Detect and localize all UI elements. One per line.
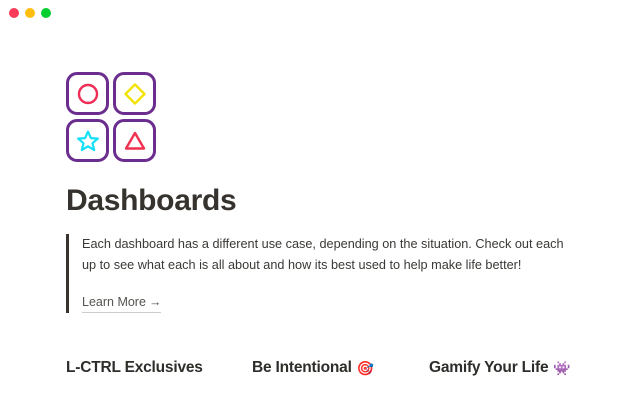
maximize-window-button[interactable] [41, 8, 51, 18]
description-text: Each dashboard has a different use case,… [82, 234, 569, 276]
triangle-shape-icon [123, 129, 147, 153]
description-quote-block: Each dashboard has a different use case,… [66, 234, 582, 313]
close-window-button[interactable] [9, 8, 19, 18]
star-shape-icon [76, 129, 100, 153]
section-heading-l-ctrl-exclusives[interactable]: L-CTRL Exclusives [66, 359, 252, 377]
window-title-bar [0, 0, 640, 26]
circle-shape-icon [76, 82, 100, 106]
dart-emoji: 🎯 [357, 361, 374, 375]
hero-section: Dashboards Each dashboard has a differen… [0, 26, 640, 313]
section-label: Gamify Your Life [429, 359, 548, 377]
traffic-light-group [9, 8, 51, 18]
section-label: Be Intentional [252, 359, 352, 377]
learn-more-link[interactable]: Learn More→ [82, 293, 161, 313]
section-heading-row: L-CTRL Exclusives Be Intentional 🎯 Gamif… [0, 359, 640, 377]
page-content: Dashboards Each dashboard has a differen… [0, 26, 640, 377]
section-heading-gamify-your-life[interactable]: Gamify Your Life 👾 [429, 359, 619, 377]
section-label: L-CTRL Exclusives [66, 359, 203, 377]
minimize-window-button[interactable] [25, 8, 35, 18]
section-heading-be-intentional[interactable]: Be Intentional 🎯 [252, 359, 429, 377]
alien-monster-emoji: 👾 [553, 361, 570, 375]
arrow-right-icon: → [149, 295, 162, 309]
diamond-shape-icon [123, 82, 147, 106]
learn-more-label: Learn More [82, 295, 146, 309]
page-title: Dashboards [66, 184, 640, 218]
tile-star [66, 119, 109, 162]
tile-triangle [113, 119, 156, 162]
tile-circle [66, 72, 109, 115]
dashboards-grid-icon [66, 72, 156, 162]
tile-diamond [113, 72, 156, 115]
